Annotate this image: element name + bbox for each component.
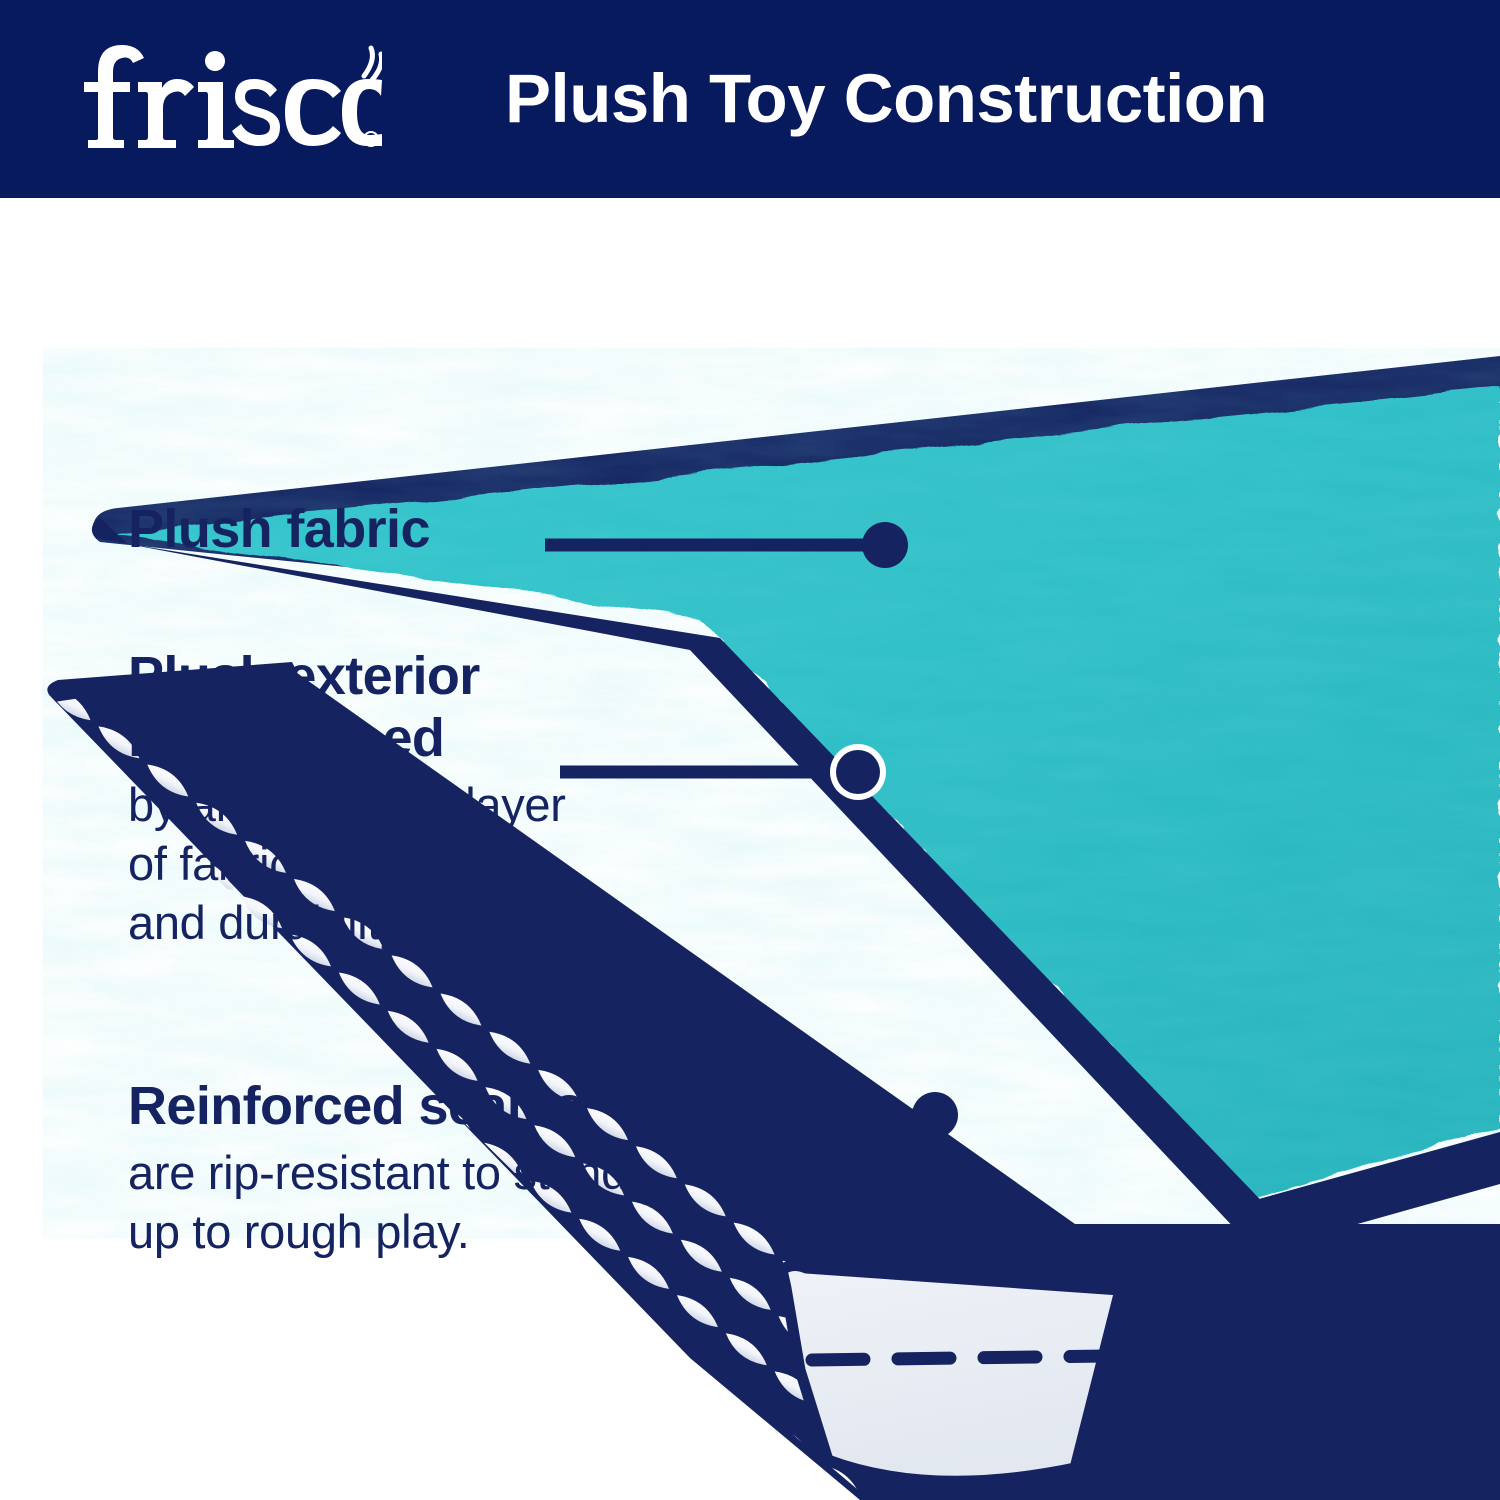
seam-flap xyxy=(782,1265,1120,1481)
callout-plush-exterior: Plush exterior is reinforced by an addit… xyxy=(128,645,728,952)
callout-dot-plush-fabric xyxy=(862,522,908,568)
callout-heading-plush-exterior: Plush exterior is reinforced xyxy=(128,645,728,769)
infographic-page: R Plush Toy Construction xyxy=(0,0,1500,1500)
header-bar: R Plush Toy Construction xyxy=(0,0,1500,198)
callout-reinforced-seams: Reinforced seams are rip-resistant to st… xyxy=(128,1075,788,1261)
callout-heading-reinforced-seams: Reinforced seams xyxy=(128,1075,788,1137)
callout-dot-reinforced-seams xyxy=(912,1092,958,1138)
callout-dot-plush-exterior xyxy=(836,750,880,794)
page-title: Plush Toy Construction xyxy=(505,47,1405,151)
callout-body-reinforced-seams: are rip-resistant to stand up to rough p… xyxy=(128,1143,788,1261)
callout-heading-plush-fabric: Plush fabric xyxy=(128,498,558,560)
svg-text:R: R xyxy=(368,135,375,145)
callout-body-plush-exterior: by an additional layer of fabric for str… xyxy=(128,775,728,952)
frisco-wordmark-logo: R xyxy=(72,42,382,152)
callout-plush-fabric: Plush fabric xyxy=(128,498,558,560)
